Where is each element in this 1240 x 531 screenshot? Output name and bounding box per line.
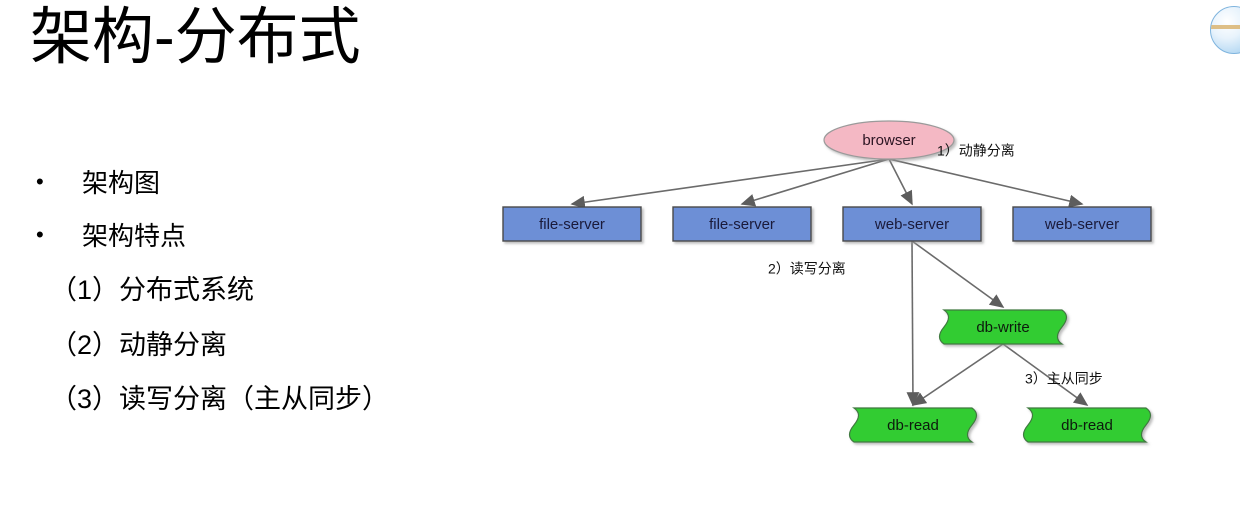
bullet-dot-icon: •: [36, 221, 62, 249]
node-label: db-read: [887, 417, 939, 434]
bullet-dot-icon: •: [36, 168, 62, 196]
diagram-node-browser[interactable]: browser: [824, 121, 954, 159]
numbered-item: （3）读写分离（主从同步）: [36, 383, 506, 415]
content-list: • 架构图 • 架构特点 （1）分布式系统 （2）动静分离 （3）读写分离（主从…: [36, 168, 506, 438]
edge-label-label-3: 3）主从同步: [1025, 371, 1103, 387]
numbered-item: （1）分布式系统: [36, 274, 506, 306]
globe-band: [1210, 25, 1240, 29]
list-item: • 架构图: [36, 168, 506, 199]
list-item: • 架构特点: [36, 221, 506, 252]
bullet-label: 架构特点: [62, 221, 186, 252]
diagram-edge: [889, 159, 912, 204]
diagram-edge: [912, 241, 913, 405]
diagram-node-db-write[interactable]: db-write: [940, 310, 1067, 344]
node-label: file-server: [539, 216, 605, 233]
bullet-label: 架构图: [62, 168, 160, 199]
diagram-edge: [742, 159, 889, 204]
diagram-edge: [913, 344, 1003, 405]
edge-label-label-2: 2）读写分离: [768, 261, 846, 277]
node-label: web-server: [874, 216, 949, 233]
diagram-edge: [889, 159, 1082, 204]
diagram-node-file-server-2[interactable]: file-server: [673, 207, 811, 241]
node-label: db-read: [1061, 417, 1113, 434]
diagram-edge: [572, 159, 889, 204]
diagram-nodes: browserfile-serverfile-serverweb-serverw…: [503, 121, 1151, 442]
diagram-node-web-server-1[interactable]: web-server: [843, 207, 981, 241]
diagram-node-file-server-1[interactable]: file-server: [503, 207, 641, 241]
diagram-node-web-server-2[interactable]: web-server: [1013, 207, 1151, 241]
edge-label-label-1: 1）动静分离: [937, 143, 1015, 159]
node-label: web-server: [1044, 216, 1119, 233]
node-label: browser: [862, 132, 915, 149]
diagram-edges: [572, 159, 1087, 405]
node-label: db-write: [976, 319, 1029, 336]
diagram-node-db-read-1[interactable]: db-read: [850, 408, 977, 442]
diagram-node-db-read-2[interactable]: db-read: [1024, 408, 1151, 442]
page-title: 架构-分布式: [30, 2, 361, 73]
node-label: file-server: [709, 216, 775, 233]
diagram-edge: [912, 241, 1003, 307]
architecture-diagram: browserfile-serverfile-serverweb-serverw…: [490, 90, 1190, 470]
numbered-item: （2）动静分离: [36, 329, 506, 361]
globe-icon: [1210, 6, 1240, 54]
diagram-edge-labels: 1）动静分离2）读写分离3）主从同步: [768, 143, 1103, 387]
